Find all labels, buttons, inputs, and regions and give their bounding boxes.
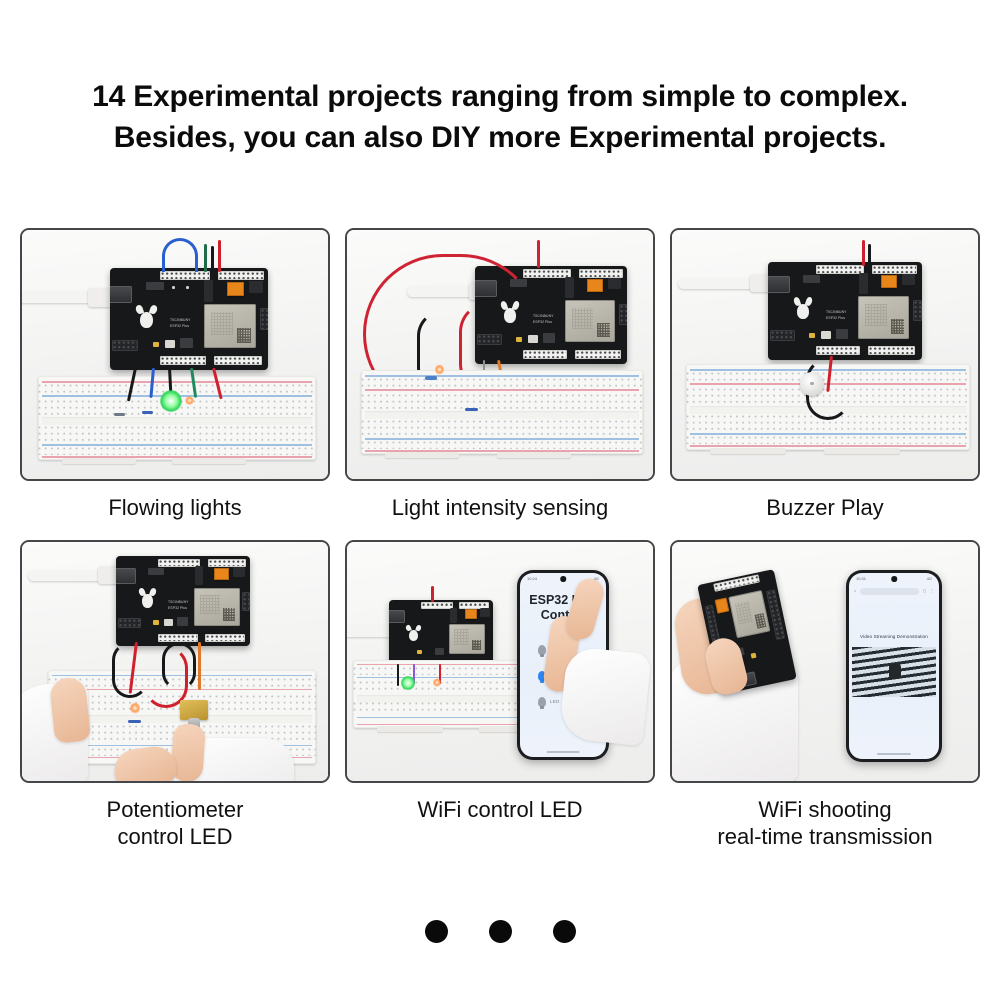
breadboard xyxy=(361,370,643,454)
browser-address-bar[interactable]: ⌂ ▢ ⋮ xyxy=(849,586,939,597)
fpc-connector xyxy=(450,608,457,623)
red-led xyxy=(185,396,194,405)
smd-led-yellow xyxy=(417,650,422,654)
camera-connector xyxy=(608,278,621,289)
breadboard-foot-left xyxy=(385,452,459,458)
photo-scene: 10:24 4G ESP32 LED Control LED OFF xyxy=(347,542,653,781)
pin-header-top-left xyxy=(160,271,210,280)
breadboard xyxy=(38,376,316,460)
smd-chip-2 xyxy=(836,329,848,339)
caption-light-sensing: Light intensity sensing xyxy=(345,495,655,522)
pin-header-top xyxy=(713,574,760,591)
usb-c-port-icon xyxy=(768,276,790,293)
usb-c-port-icon xyxy=(110,286,132,303)
caption-line-1: Light intensity sensing xyxy=(392,495,608,520)
board-brand-silkscreen: TSCINBUNY xyxy=(826,310,847,314)
project-cell-wifi-shooting: 10:31 4G ⌂ ▢ ⋮ Video Streaming Demonstra… xyxy=(670,540,980,851)
resistor-1 xyxy=(114,413,125,416)
side-header-right xyxy=(913,300,922,321)
red-led xyxy=(130,702,140,714)
camera-punch-hole-icon xyxy=(560,576,566,582)
pin-header-bottom-right xyxy=(868,346,915,355)
pagination-dot-3[interactable] xyxy=(553,920,576,943)
red-led xyxy=(433,678,441,687)
caption-potentiometer: Potentiometer control LED xyxy=(20,797,330,851)
side-header-right xyxy=(242,592,250,611)
home-indicator xyxy=(877,753,911,755)
pin-header-top-right xyxy=(208,559,246,567)
pin-header-bottom-left xyxy=(816,346,860,355)
esp32-board: TSCINBUNY ESP32 Plus xyxy=(768,262,922,360)
project-photo-buzzer-play[interactable]: TSCINBUNY ESP32 Plus xyxy=(670,228,980,481)
caption-line-1: Flowing lights xyxy=(108,495,241,520)
mascot-logo-icon xyxy=(409,630,418,641)
resistor-2 xyxy=(142,411,153,414)
status-time: 10:31 xyxy=(856,576,866,581)
smd-ic xyxy=(148,568,164,575)
resistor-blue xyxy=(465,408,478,411)
pin-header-bottom-right xyxy=(205,634,245,642)
fpc-connector xyxy=(565,277,574,298)
mascot-logo-icon xyxy=(797,304,809,319)
caption-line-1: Buzzer Play xyxy=(766,495,883,520)
status-time: 10:24 xyxy=(527,576,537,581)
smd-chip-2 xyxy=(180,338,193,348)
wire-black-mid xyxy=(162,642,196,690)
orange-connector xyxy=(465,609,477,619)
smartphone-stream[interactable]: 10:31 4G ⌂ ▢ ⋮ Video Streaming Demonstra… xyxy=(846,570,942,762)
board-model-silkscreen: ESP32 Plus xyxy=(826,316,845,320)
more-menu-icon[interactable]: ⋮ xyxy=(930,589,934,593)
caption-wifi-shooting: WiFi shooting real-time transmission xyxy=(670,797,980,851)
wire-red-top xyxy=(218,240,221,272)
esp32-board: TSCINBUNY ESP32 Plus xyxy=(116,556,250,646)
promo-page: 14 Experimental projects ranging from si… xyxy=(0,0,1000,1000)
wire-black-top xyxy=(211,246,214,272)
esp32-module xyxy=(565,300,615,342)
smd-led-yellow xyxy=(153,620,159,625)
pin-header-bottom-right xyxy=(214,356,262,365)
breadboard-foot-right xyxy=(172,458,246,464)
caption-line-1: WiFi control LED xyxy=(417,797,582,822)
mascot-logo-icon xyxy=(140,312,153,328)
board-model-silkscreen: ESP32 Plus xyxy=(168,606,187,610)
caption-line-2: real-time transmission xyxy=(670,824,980,851)
page-title-line-2: Besides, you can also DIY more Experimen… xyxy=(0,117,1000,158)
side-header-left xyxy=(118,618,141,628)
board-brand-silkscreen: TSCINBUNY xyxy=(170,318,191,322)
breadboard-foot-right xyxy=(497,452,571,458)
mascot-logo-icon xyxy=(142,594,153,608)
module-qr-code xyxy=(597,323,610,337)
side-header-left xyxy=(112,340,138,351)
photoresistor xyxy=(425,376,437,380)
stream-page-title: Video Streaming Demonstration xyxy=(849,634,939,639)
esp32-module xyxy=(194,588,240,626)
caption-wifi-control-led: WiFi control LED xyxy=(345,797,655,824)
esp32-module xyxy=(449,624,485,654)
project-grid: TSCINBUNY ESP32 Plus xyxy=(20,228,980,850)
board-led-dot-2 xyxy=(186,286,189,289)
page-title-line-1: 14 Experimental projects ranging from si… xyxy=(0,76,1000,117)
project-photo-potentiometer[interactable]: TSCINBUNY ESP32 Plus xyxy=(20,540,330,783)
resistor-blue xyxy=(128,720,141,723)
breadboard-foot-left xyxy=(710,448,786,454)
smd-ic xyxy=(146,282,164,290)
module-qr-code xyxy=(754,613,766,629)
green-led-lit xyxy=(401,676,415,690)
photo-scene: TSCINBUNY ESP32 Plus xyxy=(672,230,978,479)
smd-ic xyxy=(803,275,820,283)
orange-connector xyxy=(227,282,244,296)
home-indicator xyxy=(547,751,580,753)
smd-chip-1 xyxy=(165,340,175,348)
wire-blue-top xyxy=(162,238,198,272)
pagination-dot-1[interactable] xyxy=(425,920,448,943)
orange-led xyxy=(435,364,444,375)
project-cell-potentiometer: TSCINBUNY ESP32 Plus xyxy=(20,540,330,851)
board-model-silkscreen: ESP32 Plus xyxy=(170,324,189,328)
caption-line-1: Potentiometer xyxy=(107,797,244,822)
fpc-connector xyxy=(195,566,203,585)
video-stream-frame xyxy=(852,647,937,697)
side-header-left xyxy=(770,330,795,341)
usb-c-port-icon xyxy=(389,610,405,623)
project-cell-light-sensing: TSCINBUNY ESP32 Plus xyxy=(345,228,655,522)
potentiometer xyxy=(180,700,208,720)
photo-scene: 10:31 4G ⌂ ▢ ⋮ Video Streaming Demonstra… xyxy=(672,542,978,781)
pin-header-top-right xyxy=(218,271,264,280)
usb-c-port-icon xyxy=(116,568,136,584)
pin-header-top-left xyxy=(421,602,453,609)
led-row-3[interactable]: LED xyxy=(538,697,560,707)
orange-connector xyxy=(214,568,229,580)
breadboard-foot-right xyxy=(824,448,900,454)
project-cell-flowing-lights: TSCINBUNY ESP32 Plus xyxy=(20,228,330,522)
bulb-off-icon xyxy=(538,697,546,707)
smd-chip-1 xyxy=(164,619,173,626)
smd-chip-2 xyxy=(543,333,555,343)
esp32-board: TSCINBUNY ESP32 Plus xyxy=(110,268,268,370)
pagination-dot-2[interactable] xyxy=(489,920,512,943)
bulb-off-icon xyxy=(538,645,546,655)
module-qr-code xyxy=(223,608,235,621)
board-led-dot-1 xyxy=(172,286,175,289)
wire-red-top-stub xyxy=(537,240,540,268)
project-photo-wifi-control-led[interactable]: 10:24 4G ESP32 LED Control LED OFF xyxy=(345,540,655,783)
wire-orange xyxy=(198,642,201,690)
breadboard-foot-left xyxy=(62,458,136,464)
project-photo-wifi-shooting[interactable]: 10:31 4G ⌂ ▢ ⋮ Video Streaming Demonstra… xyxy=(670,540,980,783)
photo-scene: TSCINBUNY ESP32 Plus xyxy=(22,542,328,781)
pin-header-top-left xyxy=(523,269,571,278)
caption-flowing-lights: Flowing lights xyxy=(20,495,330,522)
pin-header-top-right xyxy=(579,269,623,278)
smd-led-yellow xyxy=(751,653,757,659)
project-photo-light-sensing[interactable]: TSCINBUNY ESP32 Plus xyxy=(345,228,655,481)
buzzer-component xyxy=(800,372,824,396)
orange-connector xyxy=(881,275,897,288)
caption-line-1: WiFi shooting xyxy=(758,797,891,822)
led-row-3-label: LED xyxy=(550,699,560,704)
camera-connector xyxy=(249,281,263,293)
caption-buzzer-play: Buzzer Play xyxy=(670,495,980,522)
smd-chip-2 xyxy=(435,648,444,655)
url-field[interactable] xyxy=(860,588,919,595)
wire-red-top xyxy=(862,240,865,266)
smd-chip-1 xyxy=(821,331,831,339)
wire-green-top xyxy=(204,244,207,272)
project-photo-flowing-lights[interactable]: TSCINBUNY ESP32 Plus xyxy=(20,228,330,481)
module-qr-code xyxy=(237,328,251,343)
pin-header-bottom-left xyxy=(158,634,198,642)
pin-header-bottom-left xyxy=(160,356,206,365)
esp32-module xyxy=(204,304,256,348)
orange-connector xyxy=(715,597,730,613)
fpc-connector xyxy=(859,273,868,294)
smd-led-yellow xyxy=(809,333,815,338)
phone-screen: 10:31 4G ⌂ ▢ ⋮ Video Streaming Demonstra… xyxy=(849,573,939,759)
side-header-right xyxy=(619,304,627,325)
esp32-module xyxy=(858,296,909,339)
orange-connector xyxy=(587,279,603,292)
camera-connector xyxy=(902,274,915,285)
project-cell-buzzer-play: TSCINBUNY ESP32 Plus xyxy=(670,228,980,522)
pagination-dots[interactable] xyxy=(0,920,1000,943)
smd-led-yellow xyxy=(153,342,159,347)
home-icon[interactable]: ⌂ xyxy=(854,589,856,593)
board-brand-silkscreen: TSCINBUNY xyxy=(168,600,189,604)
module-qr-code xyxy=(472,640,481,650)
pin-header-right xyxy=(766,589,785,640)
jumper-black-1 xyxy=(397,664,399,686)
camera-punch-hole-icon xyxy=(891,576,897,582)
project-cell-wifi-control-led: 10:24 4G ESP32 LED Control LED OFF xyxy=(345,540,655,851)
wire-red-top xyxy=(431,586,434,602)
esp32-module xyxy=(728,590,770,638)
page-title: 14 Experimental projects ranging from si… xyxy=(0,76,1000,159)
camera-connector xyxy=(233,567,245,577)
photo-scene: TSCINBUNY ESP32 Plus xyxy=(347,230,653,479)
pin-header-top-left xyxy=(816,265,864,274)
smd-chip-2 xyxy=(177,617,188,626)
side-header-right xyxy=(260,308,268,330)
status-signal: 4G xyxy=(927,576,932,581)
pin-header-top-right xyxy=(872,265,917,274)
green-led-lit xyxy=(160,390,182,412)
module-qr-code xyxy=(891,319,904,334)
pin-header-bottom-right xyxy=(575,350,621,359)
caption-line-2: control LED xyxy=(20,824,330,851)
hand-sleeve xyxy=(558,646,651,746)
photo-scene: TSCINBUNY ESP32 Plus xyxy=(22,230,328,479)
fpc-connector xyxy=(204,280,213,302)
tab-count-icon[interactable]: ▢ xyxy=(923,589,926,593)
camera-connector xyxy=(480,608,490,617)
pin-header-top-left xyxy=(158,559,200,567)
wire-black-top xyxy=(868,244,871,266)
breadboard-foot-left xyxy=(377,726,443,732)
